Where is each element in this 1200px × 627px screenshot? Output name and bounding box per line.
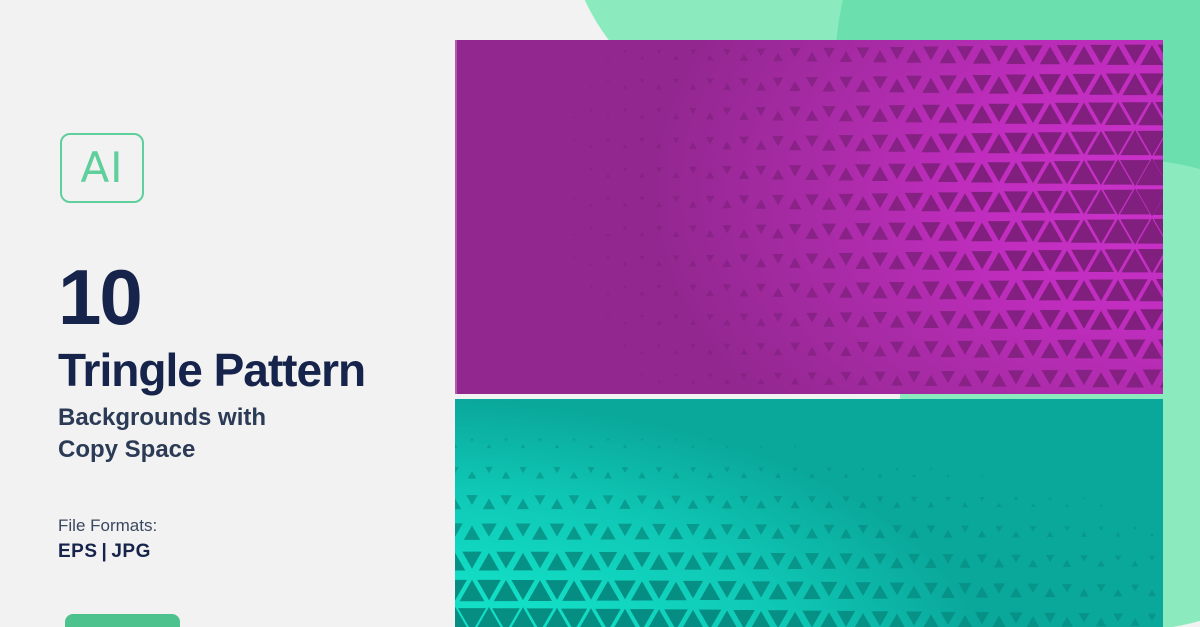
ai-format-badge: AI bbox=[60, 133, 144, 203]
file-formats-label: File Formats: bbox=[58, 516, 157, 536]
teal-triangle-pattern bbox=[455, 399, 1163, 627]
page-subtitle-line2: Copy Space bbox=[58, 434, 266, 466]
item-count: 10 bbox=[58, 258, 141, 336]
format-separator: | bbox=[98, 541, 112, 562]
purple-pattern-card bbox=[455, 40, 1163, 394]
poster-canvas: AI 10 Tringle Pattern Backgrounds with C… bbox=[0, 0, 1200, 627]
page-title: Tringle Pattern bbox=[58, 347, 365, 393]
format-eps: EPS bbox=[58, 541, 98, 562]
info-panel: AI 10 Tringle Pattern Backgrounds with C… bbox=[0, 0, 455, 627]
purple-triangle-pattern bbox=[455, 40, 1163, 394]
teal-pattern-card bbox=[455, 399, 1163, 627]
page-subtitle: Backgrounds with Copy Space bbox=[58, 402, 266, 467]
file-formats-value: EPS|JPG bbox=[58, 541, 151, 563]
ai-badge-label: AI bbox=[80, 147, 123, 189]
format-jpg: JPG bbox=[111, 541, 151, 562]
cta-button[interactable] bbox=[65, 614, 180, 627]
page-subtitle-line1: Backgrounds with bbox=[58, 402, 266, 434]
